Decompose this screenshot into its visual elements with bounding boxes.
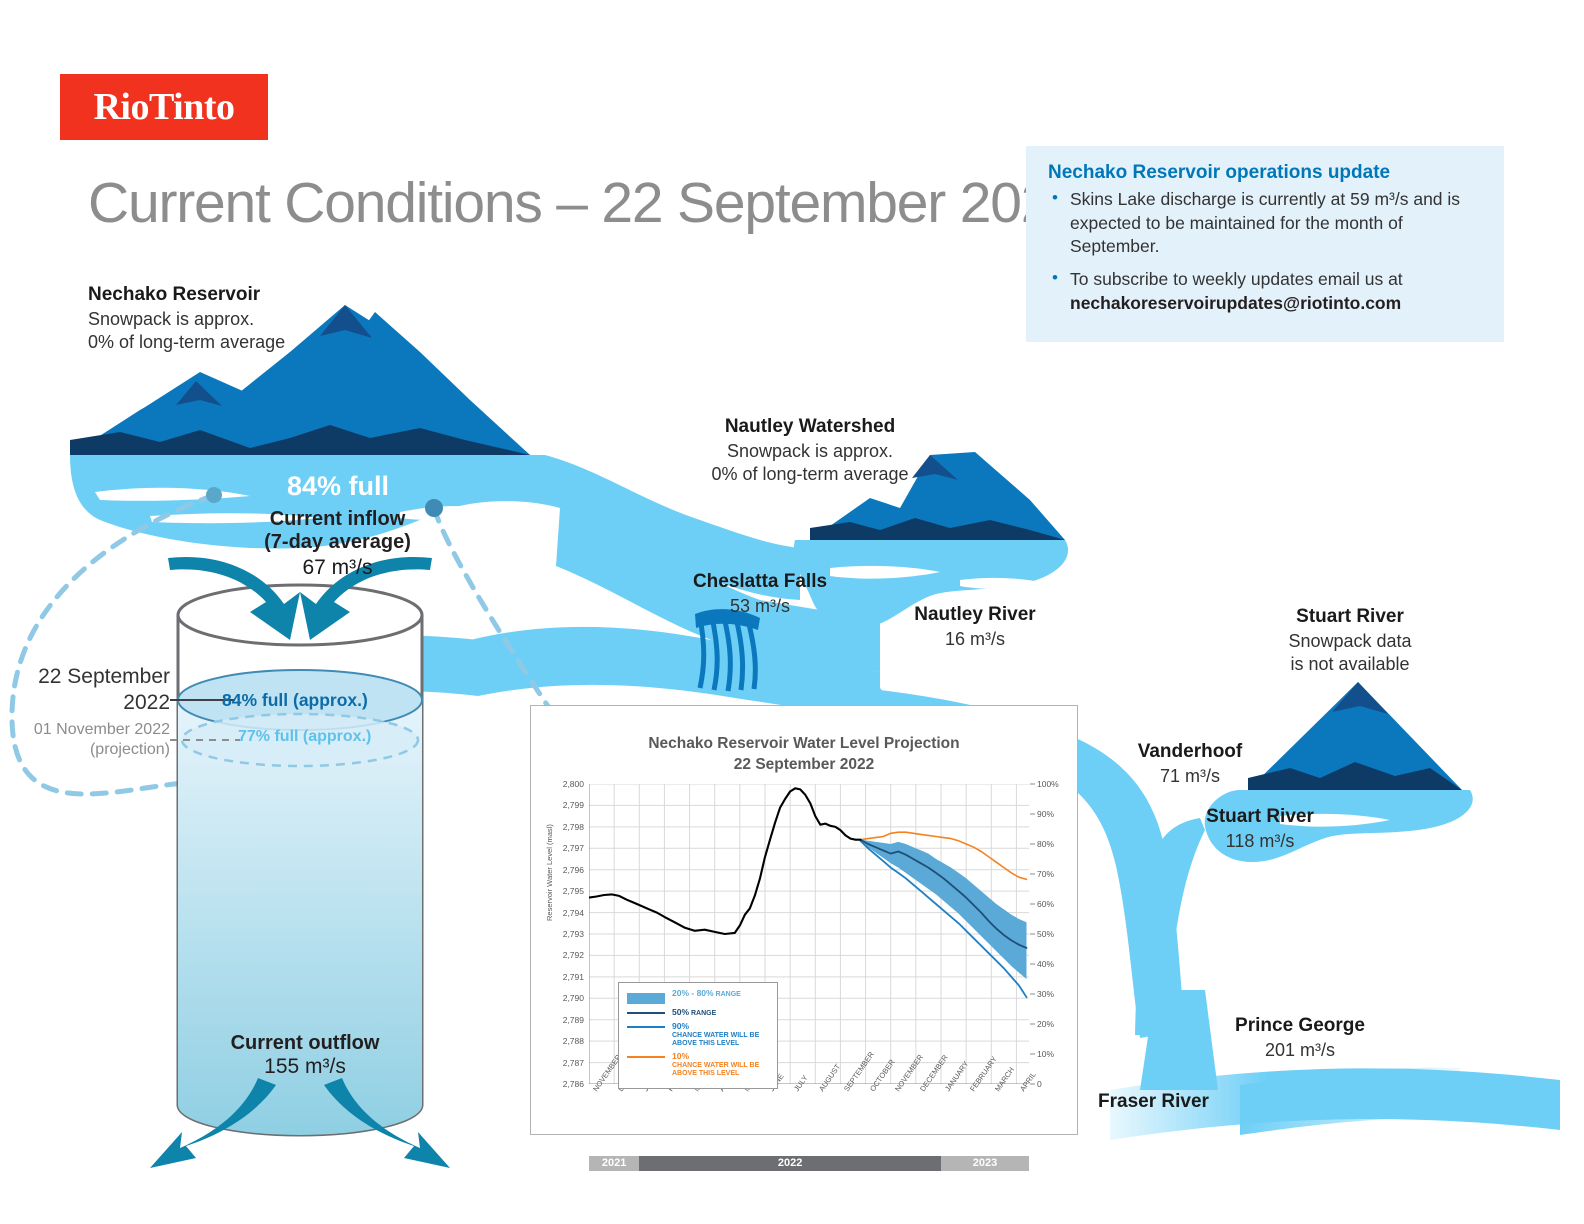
river-name: Fraser River: [1098, 1090, 1209, 1115]
date-line-1: 01 November 2022: [12, 720, 170, 740]
cheslatta-falls-label: Cheslatta Falls 53 m³/s: [640, 570, 880, 618]
vanderhoof-label: Vanderhoof 71 m³/s: [1090, 740, 1290, 788]
stuart-river-flow-label: Stuart River 118 m³/s: [1160, 805, 1360, 853]
inflow-value: 67 m³/s: [200, 556, 475, 580]
chart-title: Nechako Reservoir Water Level Projection…: [531, 734, 1077, 776]
chart-y2-tick-mark: [1030, 994, 1035, 995]
label-title: Nechako Reservoir: [88, 283, 285, 308]
chart-y2-tick: 30%: [1037, 989, 1054, 999]
chart-y2-tick: 20%: [1037, 1019, 1054, 1029]
chart-y2-tick: 60%: [1037, 899, 1054, 909]
chart-y2-tick-mark: [1030, 934, 1035, 935]
inflow-title: Current inflow: [200, 508, 475, 531]
chart-y2-tick-mark: [1030, 784, 1035, 785]
chart-y-tick: 2,794: [563, 908, 584, 918]
legend-label: 10%: [672, 1052, 769, 1062]
chart-y-tick: 2,787: [563, 1058, 584, 1068]
chart-y-tick: 2,798: [563, 822, 584, 832]
legend-swatch: [627, 993, 665, 1004]
chart-y-tick: 2,786: [563, 1079, 584, 1089]
river-value: 118 m³/s: [1160, 830, 1360, 853]
list-item: • Skins Lake discharge is currently at 5…: [1048, 188, 1482, 259]
fill-level-projection: 77% full (approx.): [238, 728, 371, 746]
bullet-icon: •: [1052, 187, 1058, 210]
chart-y2-tick-mark: [1030, 904, 1035, 905]
nautley-watershed-label: Nautley Watershed Snowpack is approx. 0%…: [620, 415, 1000, 486]
legend-item: 90%CHANCE WATER WILL BE ABOVE THIS LEVEL: [627, 1022, 769, 1048]
chart-y2-tick-mark: [1030, 874, 1035, 875]
lake-fill-percent: 84% full: [238, 471, 438, 502]
chart-title-line-1: Nechako Reservoir Water Level Projection: [531, 734, 1077, 755]
chart-year-band: 2023: [941, 1156, 1029, 1171]
fill-level-current: 84% full (approx.): [222, 690, 368, 711]
chart-y-tick: 2,799: [563, 800, 584, 810]
legend-label: 50% RANGE: [672, 1008, 716, 1018]
legend-item: 20% - 80% RANGE: [627, 989, 769, 1004]
river-name: Stuart River: [1160, 805, 1360, 830]
chart-y2-tick: 80%: [1037, 839, 1054, 849]
stuart-river-snowpack-label: Stuart River Snowpack data is not availa…: [1230, 605, 1470, 676]
operations-update-box: Nechako Reservoir operations update • Sk…: [1026, 146, 1504, 342]
chart-y2-tick: 90%: [1037, 809, 1054, 819]
chart-y2-tick: 70%: [1037, 869, 1054, 879]
legend-sub: RANGE: [714, 991, 741, 998]
update-bullet-list: • Skins Lake discharge is currently at 5…: [1048, 188, 1482, 315]
label-title: Stuart River: [1230, 605, 1470, 630]
bullet-text: To subscribe to weekly updates email us …: [1070, 269, 1403, 289]
legend-item: 50% RANGE: [627, 1008, 769, 1018]
river-name: Cheslatta Falls: [640, 570, 880, 595]
logo-text: RioTinto: [93, 85, 234, 129]
chart-y-tick: 2,788: [563, 1036, 584, 1046]
current-outflow-label: Current outflow 155 m³/s: [185, 1032, 425, 1079]
chart-y2-tick: 0: [1037, 1079, 1042, 1089]
label-line-1: Snowpack is approx.: [620, 440, 1000, 463]
legend-swatch: [627, 1026, 665, 1028]
outflow-title: Current outflow: [185, 1032, 425, 1055]
inflow-subtitle: (7-day average): [200, 531, 475, 554]
label-line-1: Snowpack data: [1230, 630, 1470, 653]
nautley-river-label: Nautley River 16 m³/s: [875, 603, 1075, 651]
legend-item: 10%CHANCE WATER WILL BE ABOVE THIS LEVEL: [627, 1052, 769, 1078]
chart-legend: 20% - 80% RANGE50% RANGE90%CHANCE WATER …: [618, 982, 778, 1089]
label-line-2: 0% of long-term average: [620, 463, 1000, 486]
label-line-2: is not available: [1230, 653, 1470, 676]
legend-sub: CHANCE WATER WILL BE ABOVE THIS LEVEL: [672, 1032, 769, 1048]
fraser-river-label: Fraser River: [1098, 1090, 1209, 1115]
legend-sub: CHANCE WATER WILL BE ABOVE THIS LEVEL: [672, 1062, 769, 1078]
chart-y-tick: 2,793: [563, 929, 584, 939]
date-line-2: 2022: [20, 690, 170, 716]
bullet-icon: •: [1052, 267, 1058, 290]
label-line-1: Snowpack is approx.: [88, 308, 285, 331]
chart-year-band: 2021: [589, 1156, 639, 1171]
river-name: Prince George: [1200, 1014, 1400, 1039]
river-value: 53 m³/s: [640, 595, 880, 618]
subscribe-email-link[interactable]: nechakoreservoirupdates@riotinto.com: [1070, 293, 1401, 313]
rio-tinto-logo: RioTinto: [60, 74, 268, 140]
chart-y-tick: 2,791: [563, 972, 584, 982]
water-level-projection-chart: Nechako Reservoir Water Level Projection…: [530, 705, 1078, 1135]
chart-y2-tick-mark: [1030, 844, 1035, 845]
chart-y-axis-label: Reservoir Water Level (masl): [545, 824, 554, 921]
current-date-annotation: 22 September 2022: [20, 664, 170, 717]
chart-y-tick: 2,797: [563, 843, 584, 853]
chart-y2-tick: 10%: [1037, 1049, 1054, 1059]
river-value: 71 m³/s: [1090, 765, 1290, 788]
chart-y-tick: 2,789: [563, 1015, 584, 1025]
chart-plot-area: 2,7862,7872,7882,7892,7902,7912,7922,793…: [589, 784, 1029, 1084]
legend-swatch: [627, 1012, 665, 1014]
chart-y-tick: 2,790: [563, 993, 584, 1003]
chart-y2-tick: 40%: [1037, 959, 1054, 969]
chart-y-tick: 2,795: [563, 886, 584, 896]
legend-label: 90%: [672, 1022, 769, 1032]
page-title: Current Conditions – 22 September 2022: [88, 170, 1082, 236]
list-item: • To subscribe to weekly updates email u…: [1048, 268, 1482, 315]
chart-y2-tick: 50%: [1037, 929, 1054, 939]
date-line-1: 22 September: [20, 664, 170, 690]
chart-y2-tick-mark: [1030, 1054, 1035, 1055]
chart-y2-tick-mark: [1030, 814, 1035, 815]
projection-date-annotation: 01 November 2022 (projection): [12, 720, 170, 760]
prince-george-label: Prince George 201 m³/s: [1200, 1014, 1400, 1062]
legend-label: 20% - 80% RANGE: [672, 989, 741, 999]
chart-y-tick: 2,796: [563, 865, 584, 875]
river-name: Vanderhoof: [1090, 740, 1290, 765]
chart-title-line-2: 22 September 2022: [531, 755, 1077, 776]
chart-y-tick: 2,800: [563, 779, 584, 789]
chart-y-tick: 2,792: [563, 950, 584, 960]
river-name: Nautley River: [875, 603, 1075, 628]
outflow-value: 155 m³/s: [185, 1055, 425, 1079]
chart-y2-tick-mark: [1030, 964, 1035, 965]
label-line-2: 0% of long-term average: [88, 331, 285, 354]
chart-y2-tick: 100%: [1037, 779, 1059, 789]
bullet-text: Skins Lake discharge is currently at 59 …: [1070, 189, 1460, 256]
river-value: 201 m³/s: [1200, 1039, 1400, 1062]
current-inflow-label: Current inflow (7-day average) 67 m³/s: [200, 508, 475, 580]
river-value: 16 m³/s: [875, 628, 1075, 651]
connector-dot-lake: [206, 487, 222, 503]
update-heading: Nechako Reservoir operations update: [1048, 162, 1482, 184]
chart-y2-tick-mark: [1030, 1024, 1035, 1025]
nechako-reservoir-label: Nechako Reservoir Snowpack is approx. 0%…: [88, 283, 285, 354]
legend-swatch: [627, 1056, 665, 1058]
date-line-2: (projection): [12, 740, 170, 760]
legend-sub: RANGE: [689, 1010, 716, 1017]
chart-year-band: 2022: [639, 1156, 941, 1171]
label-title: Nautley Watershed: [620, 415, 1000, 440]
